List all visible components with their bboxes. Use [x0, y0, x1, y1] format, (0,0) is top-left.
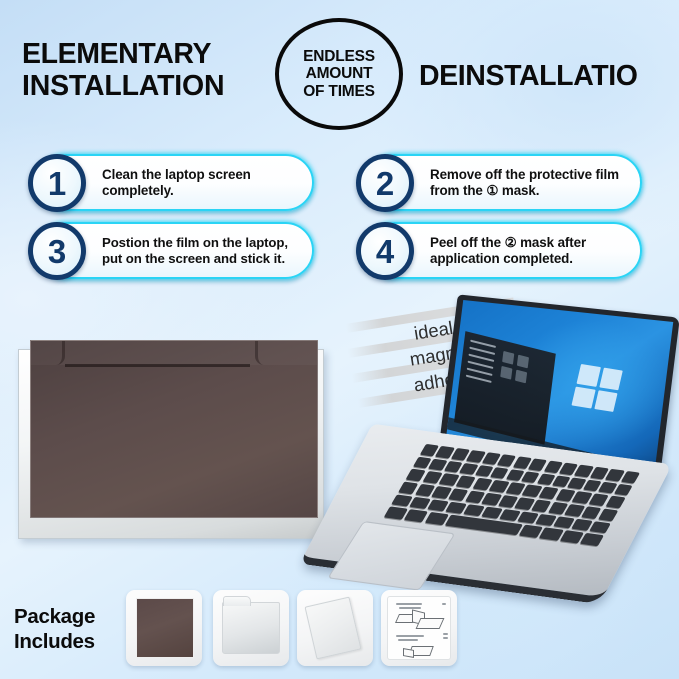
step-item-2: 2 Remove off the protective film from th…: [366, 154, 642, 211]
windows-logo-pane: [599, 367, 623, 389]
package-item-privacy-filter-film: [126, 590, 202, 666]
heading-deinstallation: DEINSTALLATIO: [419, 60, 638, 93]
step-number-3: 3: [28, 222, 86, 280]
endless-amount-badge: ENDLESS AMOUNT OF TIMES: [275, 18, 403, 130]
badge-line-1: ENDLESS: [303, 48, 375, 65]
step-item-3: 3 Postion the film on the laptop, put on…: [38, 222, 314, 279]
laptop-trackpad: [327, 521, 455, 591]
laptop-illustration: [336, 298, 679, 598]
start-menu-tile: [515, 370, 527, 384]
heading-line-2: INSTALLATION: [22, 70, 224, 102]
cleaning-cloth-icon: [305, 597, 362, 660]
badge-line-3: OF TIMES: [303, 83, 375, 100]
manual-text-line: [399, 607, 421, 609]
windows-logo-pane: [571, 386, 595, 408]
package-item-instruction-manual: [381, 590, 457, 666]
keyboard-key: [598, 509, 618, 521]
manual-text-line: [443, 637, 448, 639]
step-text-1: Clean the laptop screen completely.: [102, 167, 306, 199]
manual-text-line: [442, 603, 446, 605]
privacy-filter-illustration: [16, 340, 334, 545]
windows-logo-pane: [576, 364, 600, 386]
manual-text-line: [398, 639, 418, 641]
manual-figure: [416, 618, 445, 629]
backing-sheet-icon: [222, 602, 280, 654]
package-includes-section: Package Includes: [0, 586, 679, 679]
filter-notch-line: [65, 364, 250, 367]
manual-text-line: [396, 603, 422, 605]
heading-elementary-installation: ELEMENTARY INSTALLATION: [22, 38, 224, 102]
package-includes-label: Package Includes: [14, 604, 95, 654]
package-label-line-1: Package: [14, 604, 95, 629]
privacy-film-icon: [136, 598, 194, 658]
filter-tab-right: [255, 341, 317, 365]
keyboard-key: [589, 521, 611, 534]
manual-figure: [403, 648, 414, 658]
keyboard-key: [580, 533, 604, 546]
start-menu-tile: [517, 355, 529, 369]
step-text-4: Peel off the ② mask after application co…: [430, 235, 634, 267]
step-number-4: 4: [356, 222, 414, 280]
package-label-line-2: Includes: [14, 629, 95, 654]
step-text-2: Remove off the protective film from the …: [430, 167, 634, 199]
heading-line-1: ELEMENTARY: [22, 38, 224, 70]
package-item-backing-sheet: [213, 590, 289, 666]
filter-tab-left: [31, 341, 65, 365]
step-item-1: 1 Clean the laptop screen completely.: [38, 154, 314, 211]
step-number-2: 2: [356, 154, 414, 212]
windows-logo-icon: [571, 364, 622, 412]
step-item-4: 4 Peel off the ② mask after application …: [366, 222, 642, 279]
keyboard-key: [404, 510, 428, 523]
keyboard-key: [605, 496, 625, 508]
header-section: ELEMENTARY INSTALLATION ENDLESS AMOUNT O…: [0, 0, 679, 142]
instruction-manual-icon: [387, 596, 451, 660]
manual-text-line: [396, 635, 424, 637]
installation-steps: 1 Clean the laptop screen completely. 2 …: [0, 150, 679, 285]
filter-brown-panel: [30, 340, 318, 518]
step-number-1: 1: [28, 154, 86, 212]
keyboard-key: [621, 471, 640, 483]
manual-text-line: [443, 633, 448, 635]
start-menu-row: [466, 375, 492, 384]
step-text-3: Postion the film on the laptop, put on t…: [102, 235, 306, 266]
keyboard-key: [614, 484, 633, 496]
product-infographic: ELEMENTARY INSTALLATION ENDLESS AMOUNT O…: [0, 0, 679, 679]
start-menu-tile: [502, 351, 514, 365]
windows-logo-pane: [594, 390, 618, 412]
package-item-cleaning-cloth: [297, 590, 373, 666]
start-menu-tile: [500, 366, 512, 380]
badge-line-2: AMOUNT: [306, 65, 373, 82]
